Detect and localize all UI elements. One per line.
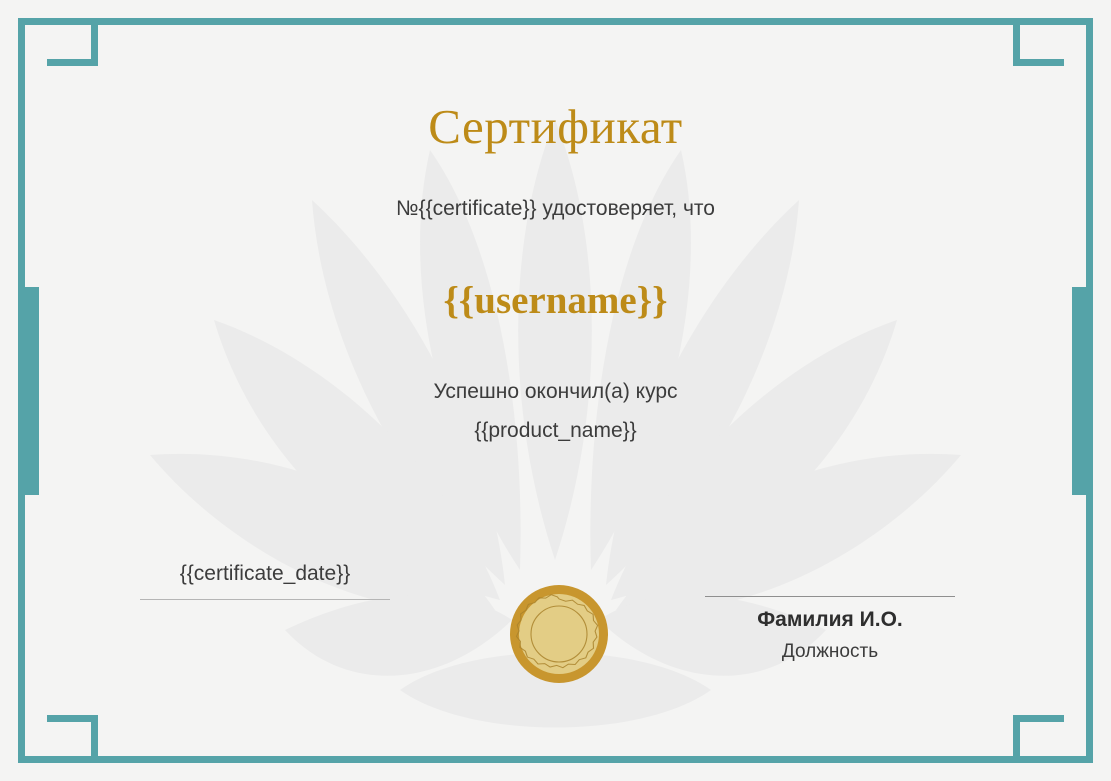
signatory-name: Фамилия И.О. [705,608,955,632]
course-name: {{product_name}} [0,419,1111,443]
signature-rule [705,596,955,597]
signatory-role: Должность [705,641,955,663]
completion-label: Успешно окончил(а) курс [0,380,1111,404]
certificate-title: Сертификат [0,100,1111,154]
date-signature-rule [140,599,390,600]
certificate-page: Сертификат №{{certificate}} удостоверяет… [0,0,1111,781]
recipient-name: {{username}} [0,278,1111,323]
certificate-date: {{certificate_date}} [140,562,390,586]
certificate-number-line: №{{certificate}} удостоверяет, что [0,197,1111,221]
certificate-content: Сертификат №{{certificate}} удостоверяет… [0,0,1111,781]
gold-award-seal [509,584,609,684]
